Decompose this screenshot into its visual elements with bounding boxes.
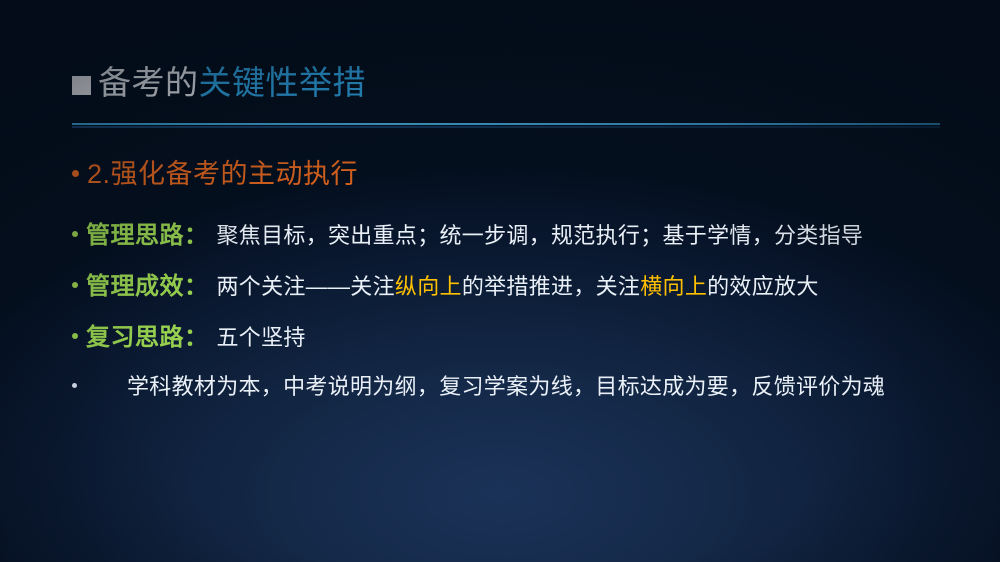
bullet-text: 学科教材为本，中考说明为纲，复习学案为线，目标达成为要，反馈评价为魂 xyxy=(127,369,885,401)
title-divider-shadow xyxy=(72,126,940,128)
section-heading: 2.强化备考的主动执行 xyxy=(72,157,358,191)
slide-title: 备考的 关键性举措 xyxy=(72,63,366,103)
bullet-text-pre: 两个关注——关注 xyxy=(209,269,395,301)
bullet-highlight-vertical: 纵向上 xyxy=(395,269,462,301)
bullet-text-mid: 的举措推进，关注 xyxy=(462,269,640,301)
bullet-label: 管理思路： xyxy=(86,215,209,250)
bullet-dot-icon xyxy=(72,333,78,339)
bullet-item-management-approach: 管理思路： 聚焦目标，突出重点；统一步调，规范执行；基于学情，分类指导 xyxy=(72,215,863,250)
title-plain-text: 备考的 xyxy=(98,63,199,103)
bullet-label: 管理成效： xyxy=(86,266,209,301)
bullet-item-five-principles: 学科教材为本，中考说明为纲，复习学案为线，目标达成为要，反馈评价为魂 xyxy=(72,369,885,401)
section-heading-text: 2.强化备考的主动执行 xyxy=(87,157,358,191)
bullet-text: 五个坚持 xyxy=(209,320,306,352)
square-bullet-icon xyxy=(72,76,91,95)
bullet-item-management-results: 管理成效： 两个关注——关注 纵向上 的举措推进，关注 横向上 的效应放大 xyxy=(72,266,819,301)
title-divider xyxy=(72,123,940,125)
title-accent-text: 关键性举措 xyxy=(199,63,367,103)
slide-content: 备考的 关键性举措 2.强化备考的主动执行 管理思路： 聚焦目标，突出重点；统一… xyxy=(0,0,1000,562)
bullet-item-review-approach: 复习思路： 五个坚持 xyxy=(72,317,306,352)
slide-canvas: 备考的 关键性举措 2.强化备考的主动执行 管理思路： 聚焦目标，突出重点；统一… xyxy=(0,0,1000,562)
bullet-dot-icon xyxy=(72,231,78,237)
bullet-text: 聚焦目标，突出重点；统一步调，规范执行；基于学情，分类指导 xyxy=(209,218,864,250)
bullet-dot-icon xyxy=(72,383,77,388)
bullet-dot-icon xyxy=(72,282,78,288)
bullet-highlight-horizontal: 横向上 xyxy=(640,269,707,301)
bullet-dot-icon xyxy=(72,170,79,177)
bullet-text-post: 的效应放大 xyxy=(707,269,819,301)
bullet-label: 复习思路： xyxy=(86,317,209,352)
